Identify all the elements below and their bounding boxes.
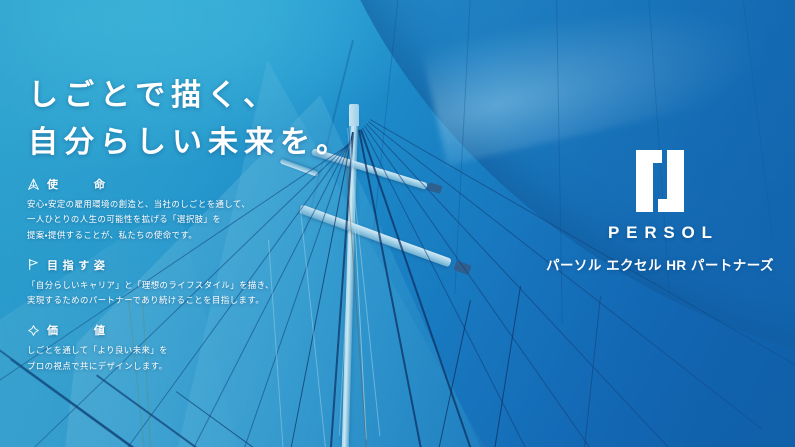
compass-icon <box>27 178 40 191</box>
persol-wordmark: PERSOL <box>540 224 780 241</box>
block-header: 目指す姿 <box>27 257 327 273</box>
block-body-line: 「自分らしいキャリア」と「理想のライフスタイル」を描き、 <box>27 278 327 293</box>
block-body: 「自分らしいキャリア」と「理想のライフスタイル」を描き、 実現するためのパートナ… <box>27 278 327 309</box>
diamond-icon <box>27 324 40 337</box>
block-body-line: 提案・提供することが、私たちの使命です。 <box>27 228 327 243</box>
brand-logo-lockup: PERSOL パーソル エクセル HR パートナーズ <box>540 150 780 273</box>
headline-line-2: 自分らしい未来を。 <box>28 119 352 166</box>
block-title: 目指す姿 <box>47 257 109 273</box>
philosophy-block-vision: 目指す姿 「自分らしいキャリア」と「理想のライフスタイル」を描き、 実現するため… <box>27 257 327 309</box>
block-header: 使 命 <box>27 176 327 192</box>
block-body-line: 安心・安定の雇用環境の創造と、当社のしごとを通して、 <box>27 197 327 212</box>
block-body: 安心・安定の雇用環境の創造と、当社のしごとを通して、 一人ひとりの人生の可能性を… <box>27 197 327 243</box>
block-body-line: しごとを通して「より良い未来」を <box>27 343 327 358</box>
philosophy-blocks: 使 命 安心・安定の雇用環境の創造と、当社のしごとを通して、 一人ひとりの人生の… <box>27 176 327 388</box>
block-body-line: 実現するためのパートナーであり続けることを目指します。 <box>27 293 327 308</box>
block-body-line: 一人ひとりの人生の可能性を拡げる「選択肢」を <box>27 212 327 227</box>
brand-tagline: パーソル エクセル HR パートナーズ <box>540 259 780 273</box>
headline-line-1: しごとで描く、 <box>28 72 352 119</box>
hero-banner: しごとで描く、 自分らしい未来を。 使 命 安心・安定の雇用環境の創造と、当社の… <box>0 0 795 447</box>
philosophy-block-mission: 使 命 安心・安定の雇用環境の創造と、当社のしごとを通して、 一人ひとりの人生の… <box>27 176 327 243</box>
philosophy-block-value: 価 値 しごとを通して「より良い未来」を プロの視点で共にデザインします。 <box>27 322 327 374</box>
hero-headline: しごとで描く、 自分らしい未来を。 <box>28 72 352 167</box>
persol-mark-icon <box>632 150 688 212</box>
block-title: 使 命 <box>47 176 109 192</box>
block-header: 価 値 <box>27 322 327 338</box>
block-body: しごとを通して「より良い未来」を プロの視点で共にデザインします。 <box>27 343 327 374</box>
flag-icon <box>27 258 40 271</box>
block-body-line: プロの視点で共にデザインします。 <box>27 359 327 374</box>
block-title: 価 値 <box>47 322 109 338</box>
